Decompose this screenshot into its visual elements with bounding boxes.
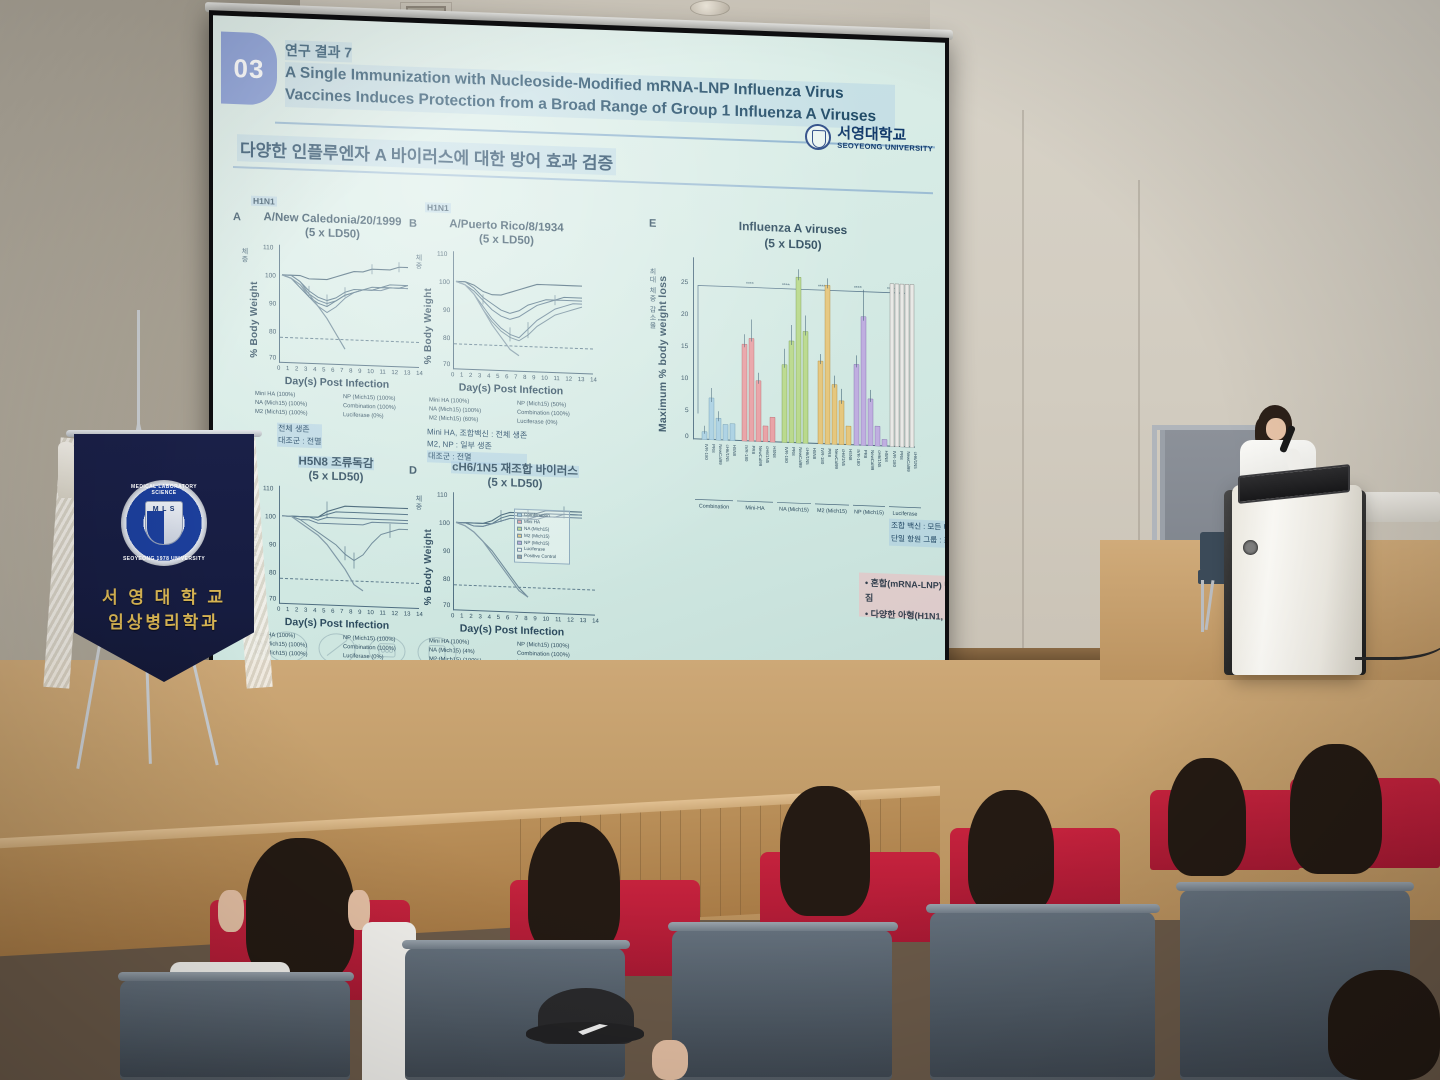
pennant-tassel <box>58 442 74 498</box>
pennant-text: 서 영 대 학 교 임상병리학과 <box>74 586 254 635</box>
panel-e-bars: ******** ************ <box>694 257 916 447</box>
panel-a-curves <box>280 245 420 368</box>
panel-b-letter: B <box>409 218 417 230</box>
slide-title: A Single Immunization with Nucleoside-Mo… <box>285 62 895 130</box>
svg-text:IVR-180: IVR-180 <box>820 448 825 465</box>
svg-text:IVR-180: IVR-180 <box>892 451 897 468</box>
seat-top-rail <box>1176 882 1414 891</box>
panel-e-xticks: IVR-180 PR8 NewCal99 cH6/1N5 H5N8 IVR-18… <box>693 441 921 506</box>
svg-text:H5N8: H5N8 <box>772 446 777 458</box>
audience-head <box>1290 744 1382 874</box>
svg-text:cH6/1N5: cH6/1N5 <box>877 450 882 468</box>
svg-text:NewCal99: NewCal99 <box>718 444 723 465</box>
section-number-badge: 03 <box>221 32 277 106</box>
wall-seam <box>1022 110 1024 670</box>
svg-text:PR8: PR8 <box>863 450 868 459</box>
svg-text:H5N8: H5N8 <box>884 450 889 462</box>
svg-text:PR8: PR8 <box>711 444 716 453</box>
panel-e-plot: ******** ************ <box>693 257 915 447</box>
mls-shield-icon: M L S <box>145 501 183 545</box>
panel-b-ylabel: % Body Weight <box>423 256 434 364</box>
svg-text:cH6/1N5: cH6/1N5 <box>805 447 810 465</box>
svg-text:NA (Mich15): NA (Mich15) <box>779 507 809 514</box>
svg-text:PR8: PR8 <box>827 448 832 457</box>
department-pennant: MEDICAL LABORATORY SCIENCE M L S SEOYEON… <box>74 434 254 682</box>
panel-e: E Influenza A viruses (5 x LD50) 최대 체중 감… <box>643 211 933 512</box>
panel-d-plot: Combination Mini HA NA (Mich15) M2 (Mich… <box>453 492 595 615</box>
audience-head <box>246 838 354 982</box>
svg-text:NewCal99: NewCal99 <box>798 447 803 468</box>
side-table <box>1355 492 1440 522</box>
mls-emblem-icon: MEDICAL LABORATORY SCIENCE M L S SEOYEON… <box>121 480 207 566</box>
panel-b: B H1N1 A/Puerto Rico/8/1934 (5 x LD50) 체… <box>409 188 604 455</box>
svg-text:Luciferase: Luciferase <box>893 511 918 518</box>
svg-text:H5N8: H5N8 <box>812 448 817 460</box>
panel-b-legend: Mini HA (100%) NA (Mich15) (100%) M2 (Mi… <box>429 396 570 428</box>
presentation-slide: 03 연구 결과 7 A Single Immunization with Nu… <box>213 15 945 697</box>
audience-head <box>780 786 870 916</box>
panel-d-box-legend: Combination Mini HA NA (Mich15) M2 (Mich… <box>514 509 570 565</box>
pennant-stand: MEDICAL LABORATORY SCIENCE M L S SEOYEON… <box>24 310 254 870</box>
panel-d-letter: D <box>409 465 417 477</box>
panel-a-ylabel-kr: 체중 <box>239 247 249 263</box>
panel-d-ylabel: % Body Weight <box>423 497 434 605</box>
svg-text:cH6/1N5: cH6/1N5 <box>725 444 730 462</box>
projection-screen: 03 연구 결과 7 A Single Immunization with Nu… <box>213 15 945 697</box>
svg-text:NP (Mich15): NP (Mich15) <box>854 509 884 516</box>
panel-e-letter: E <box>649 218 656 230</box>
svg-text:cH6/1N5: cH6/1N5 <box>841 449 846 467</box>
panel-b-xlabel: Day(s) Post Infection <box>421 380 601 399</box>
audience-head <box>528 822 620 954</box>
seat-front[interactable] <box>930 912 1155 1080</box>
svg-text:****: **** <box>854 285 862 291</box>
panel-a-letter: A <box>233 211 241 223</box>
audience-head <box>968 790 1054 914</box>
svg-text:IVR-180: IVR-180 <box>784 447 789 464</box>
panel-e-note: 조합 백신 : 모든 바이러스에서 최소한의 체중 감소 단일 항원 그룹 : … <box>889 519 945 554</box>
svg-text:PR8: PR8 <box>791 447 796 456</box>
svg-text:IVR-180: IVR-180 <box>856 449 861 466</box>
svg-text:NewCal99: NewCal99 <box>834 449 839 470</box>
seat-front[interactable] <box>120 980 350 1080</box>
svg-text:M2 (Mich15): M2 (Mich15) <box>817 508 847 515</box>
power-cable <box>1355 620 1440 660</box>
conclusion-box: • 혼합(mRNA-LNP) 백신은 단일 항원보다 월등한 방어 효과를 가짐… <box>859 573 945 627</box>
svg-text:Mini-HA: Mini-HA <box>745 505 765 512</box>
audience-hand <box>218 890 244 932</box>
audience-head <box>1168 758 1246 876</box>
svg-text:PR8: PR8 <box>899 451 904 460</box>
panel-e-ylabel-kr: 최대 체중 감소율 <box>647 268 657 378</box>
svg-text:****: **** <box>782 283 790 289</box>
panel-c-plot <box>279 486 419 609</box>
svg-text:cH6/1N5: cH6/1N5 <box>765 446 770 464</box>
podium-speaker-icon <box>1243 540 1258 555</box>
seat-top-rail <box>668 922 898 931</box>
university-seal-icon <box>805 123 831 150</box>
panel-c-curves <box>280 486 420 609</box>
svg-text:****: **** <box>818 284 826 290</box>
svg-text:H5N8: H5N8 <box>920 452 921 464</box>
panel-a-subtype: H1N1 <box>251 196 277 207</box>
panel-a-legend: Mini HA (100%) NA (Mich15) (100%) M2 (Mi… <box>255 390 396 422</box>
svg-text:cH6/1N5: cH6/1N5 <box>913 452 918 470</box>
baseball-cap <box>538 988 634 1044</box>
panel-a-plot <box>279 245 419 368</box>
svg-text:****: **** <box>746 281 754 287</box>
seat-top-rail <box>926 904 1160 913</box>
section-label: 연구 결과 7 <box>285 40 352 63</box>
panel-a-xlabel: Day(s) Post Infection <box>247 374 427 393</box>
panel-e-ylabel: Maximum % body weight loss <box>657 256 669 432</box>
seat-top-rail <box>402 940 630 949</box>
panel-b-plot <box>453 251 593 374</box>
ceiling-light-icon <box>690 0 730 16</box>
svg-text:NewCal99: NewCal99 <box>758 446 763 467</box>
mls-letters: M L S <box>146 506 182 513</box>
svg-text:PR8: PR8 <box>751 445 756 454</box>
lectern <box>1232 485 1362 675</box>
svg-text:H5N8: H5N8 <box>848 449 853 461</box>
audience-head <box>1328 970 1440 1080</box>
presenter-face <box>1266 418 1286 440</box>
seal-arc-top-text: MEDICAL LABORATORY SCIENCE <box>121 484 207 496</box>
projection-screen-frame: 03 연구 결과 7 A Single Immunization with Nu… <box>209 10 949 702</box>
panel-b-subtype: H1N1 <box>425 202 451 213</box>
seat-top-rail <box>118 972 354 981</box>
svg-text:NewCal99: NewCal99 <box>870 450 875 471</box>
seat-front[interactable] <box>672 930 892 1080</box>
seal-arc-bottom-text: SEOYEONG 1978 UNIVERSITY <box>121 556 207 562</box>
auditorium-scene: 03 연구 결과 7 A Single Immunization with Nu… <box>0 0 1440 1080</box>
university-logo: 서영대학교 SEOYEONG UNIVERSITY <box>805 123 933 154</box>
panel-b-curves <box>454 251 594 374</box>
svg-text:H5N8: H5N8 <box>732 445 737 457</box>
audience-hand <box>652 1040 688 1080</box>
svg-text:IVR-180: IVR-180 <box>744 445 749 462</box>
svg-text:IVR-180: IVR-180 <box>704 444 709 461</box>
svg-text:NewCal99: NewCal99 <box>906 451 911 472</box>
panel-a: A H1N1 A/New Caledonia/20/1999 (5 x LD50… <box>233 181 428 448</box>
svg-text:Combination: Combination <box>699 504 729 511</box>
